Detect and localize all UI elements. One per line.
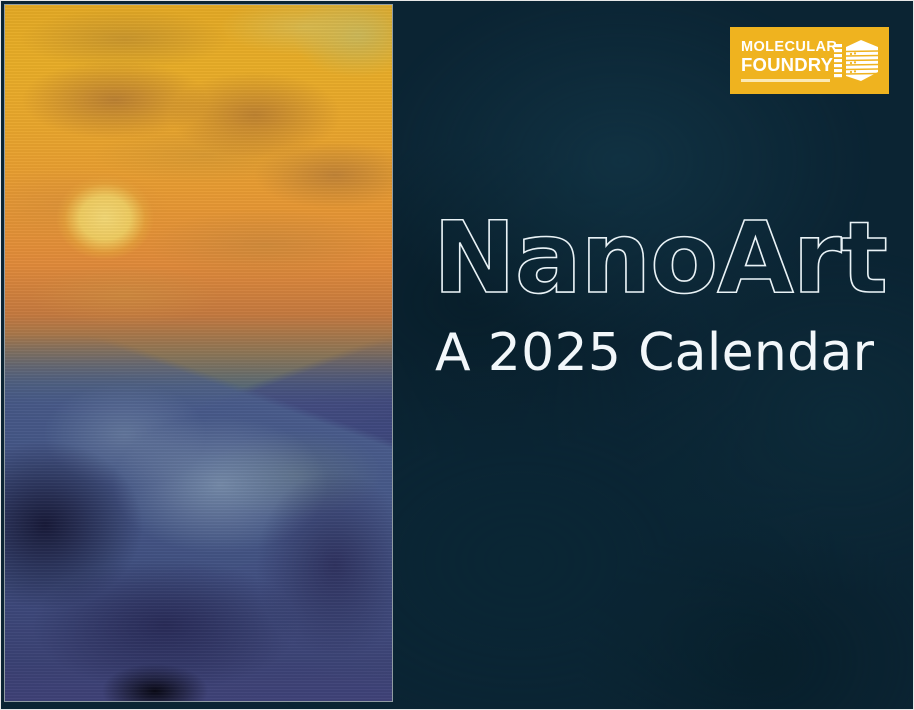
calendar-cover-page: MOLECULAR FOUNDRY (0, 0, 914, 710)
logo-line-molecular: MOLECULAR (741, 40, 830, 55)
page-subtitle: A 2025 Calendar (435, 323, 873, 383)
artwork-scanline-noise (5, 5, 392, 701)
logo-wordmark: MOLECULAR FOUNDRY (741, 40, 830, 82)
nanoart-image-panel (5, 5, 392, 701)
page-title: NanoArt (433, 207, 873, 311)
cover-title-block: NanoArt A 2025 Calendar (433, 207, 873, 383)
molecular-foundry-logo: MOLECULAR FOUNDRY (730, 27, 889, 94)
building-icon (833, 38, 879, 86)
logo-line-foundry: FOUNDRY (741, 55, 830, 74)
logo-underline-rule (741, 79, 830, 82)
